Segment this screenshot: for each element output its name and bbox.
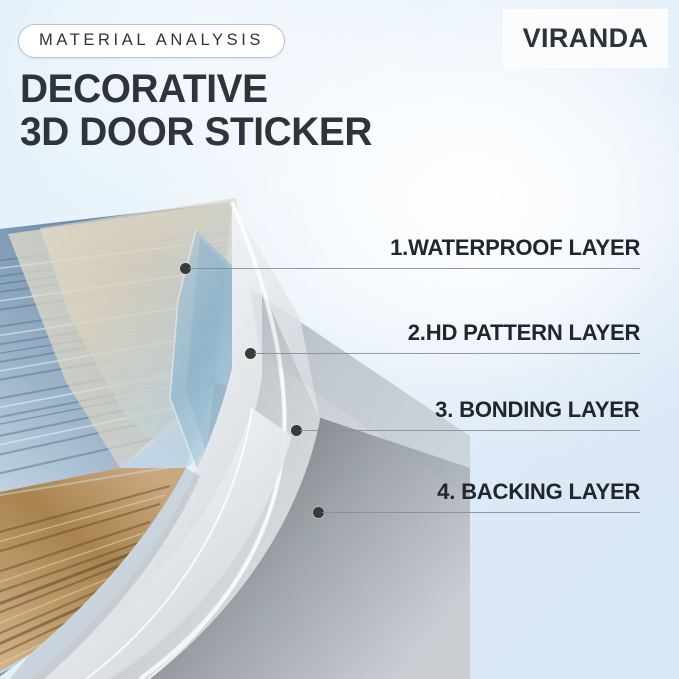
infographic-canvas: MATERIAL ANALYSIS DECORATIVE 3D DOOR STI… <box>0 0 679 679</box>
brand-logo-box: VIRANDA <box>504 10 667 67</box>
page-title: DECORATIVE 3D DOOR STICKER <box>20 68 383 154</box>
callout-underline <box>254 353 640 354</box>
callout-underline <box>189 268 640 269</box>
callout-underline <box>322 512 640 513</box>
callout-label-3: 3. BONDING LAYER <box>436 397 640 423</box>
callout-label-1: 1.WATERPROOF LAYER <box>390 235 640 261</box>
callout-label-2: 2.HD PATTERN LAYER <box>407 320 640 346</box>
title-line-1: DECORATIVE <box>20 68 372 111</box>
callout-underline <box>300 430 640 431</box>
brand-name: VIRANDA <box>523 25 649 52</box>
eyebrow-badge: MATERIAL ANALYSIS <box>18 24 285 58</box>
title-line-2: 3D DOOR STICKER <box>20 111 372 154</box>
callout-label-4: 4. BACKING LAYER <box>437 479 640 505</box>
